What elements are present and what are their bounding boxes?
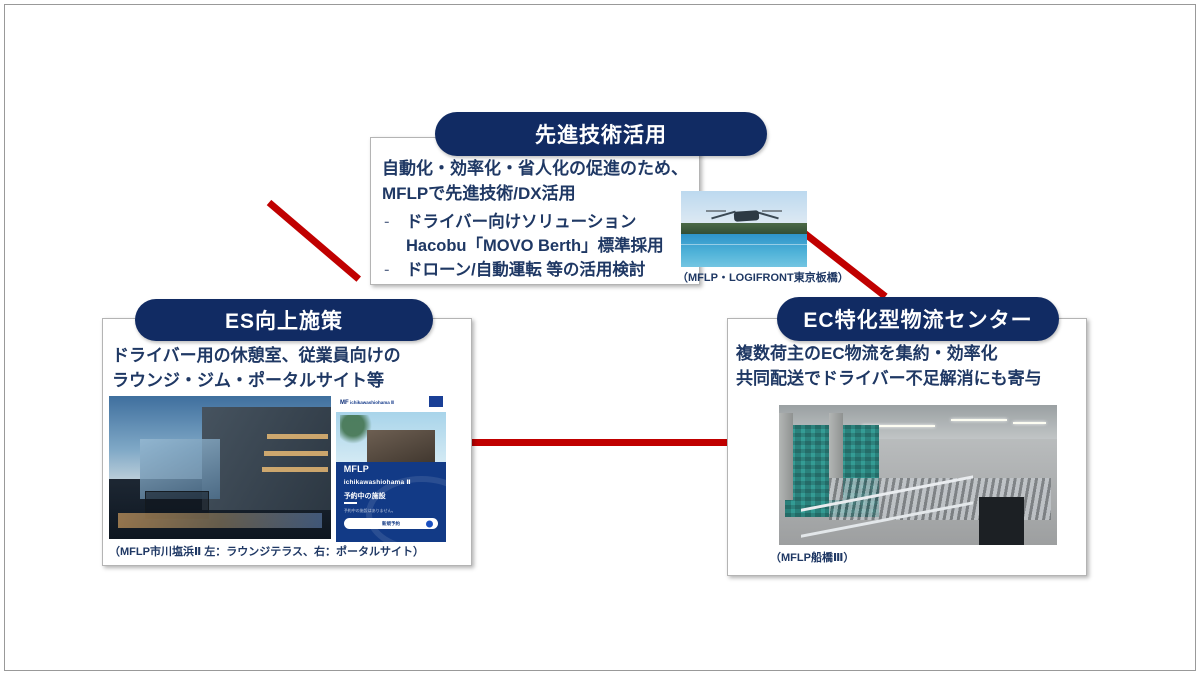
pill-label: EC特化型物流センター bbox=[803, 304, 1032, 334]
connector-left-to-right bbox=[467, 439, 735, 446]
lounge-terrace-photo bbox=[109, 396, 331, 539]
terrace-lights bbox=[118, 513, 322, 527]
ceiling-light bbox=[1013, 422, 1046, 424]
mflp-logo-icon: MF ichikawashiohama Ⅱ bbox=[340, 400, 394, 406]
top-lead-text: 自動化・効率化・省人化の促進のため、 MFLPで先進技術/DX活用 bbox=[382, 157, 702, 206]
caption-drone-photo: （MFLP・LOGIFRONT東京板橋） bbox=[677, 269, 849, 285]
phone-subtitle: ichikawashiohama Ⅱ bbox=[344, 478, 411, 486]
left-lead-text: ドライバー用の休憩室、従業員向けの ラウンジ・ジム・ポータルサイト等 bbox=[112, 344, 472, 393]
treeline-region bbox=[681, 223, 807, 235]
pill-label: ES向上施策 bbox=[225, 305, 343, 335]
building-light-band bbox=[264, 451, 328, 456]
drone-over-water-photo bbox=[681, 191, 807, 267]
glass-facade bbox=[140, 439, 220, 499]
pill-title-advanced-technology: 先進技術活用 bbox=[435, 112, 767, 156]
building-mass bbox=[202, 407, 331, 510]
bullet-dash-icon: - bbox=[384, 259, 406, 283]
phone-content-panel: MFLP ichikawashiohama Ⅱ 予約中の施設 予約中の施設はあり… bbox=[336, 462, 446, 542]
bullet-item: - ドライバー向けソリューション Hacobu「MOVO Berth」標準採用 bbox=[384, 211, 684, 259]
pill-title-employee-satisfaction: ES向上施策 bbox=[135, 299, 433, 341]
phone-top-bar: MF ichikawashiohama Ⅱ bbox=[336, 394, 446, 412]
portal-site-phone-mockup: MF ichikawashiohama Ⅱ MFLP ichikawashioh… bbox=[336, 394, 446, 542]
caption-warehouse-photo: （MFLP船橋Ⅲ） bbox=[770, 549, 854, 565]
chevron-right-icon bbox=[426, 520, 433, 527]
right-lead-text: 複数荷主のEC物流を集約・効率化 共同配送でドライバー不足解消にも寄与 bbox=[736, 342, 1086, 391]
equipment-shadow bbox=[979, 497, 1023, 545]
bullet-item: - ドローン/自動運転 等の活用検討 bbox=[384, 259, 684, 283]
pill-label: 先進技術活用 bbox=[535, 119, 667, 149]
slide-canvas: 先進技術活用 自動化・効率化・省人化の促進のため、 MFLPで先進技術/DX活用… bbox=[4, 4, 1196, 671]
phone-section-heading: 予約中の施設 bbox=[344, 491, 386, 501]
new-reservation-button[interactable]: 新規予約 bbox=[344, 518, 439, 529]
bullet-text: ドローン/自動運転 等の活用検討 bbox=[406, 259, 684, 283]
pill-title-ec-logistics-center: EC特化型物流センター bbox=[777, 297, 1059, 341]
building-light-band bbox=[267, 434, 329, 439]
drone-propeller-icon bbox=[706, 210, 726, 212]
warehouse-interior-photo bbox=[779, 405, 1057, 545]
connector-top-to-left bbox=[267, 200, 361, 282]
building-light-band bbox=[262, 467, 329, 472]
logo-mark: MF bbox=[340, 400, 349, 406]
phone-title: MFLP bbox=[344, 465, 369, 474]
bullet-text: ドライバー向けソリューション Hacobu「MOVO Berth」標準採用 bbox=[406, 211, 684, 259]
bullet-dash-icon: - bbox=[384, 211, 406, 235]
structural-pillar bbox=[779, 413, 793, 500]
button-label: 新規予約 bbox=[382, 521, 400, 527]
ceiling-light bbox=[951, 419, 1007, 421]
water-region bbox=[681, 234, 807, 267]
caption-left-photos: （MFLP市川塩浜Ⅱ 左：ラウンジテラス、右：ポータルサイト） bbox=[109, 543, 424, 559]
phone-hero-image bbox=[336, 412, 446, 468]
drone-propeller-icon bbox=[762, 210, 782, 212]
logo-site-name: ichikawashiohama Ⅱ bbox=[350, 400, 394, 405]
hamburger-menu-icon[interactable] bbox=[429, 396, 443, 407]
top-bullet-list: - ドライバー向けソリューション Hacobu「MOVO Berth」標準採用 … bbox=[384, 211, 684, 283]
section-underline bbox=[344, 502, 357, 504]
drone-body bbox=[734, 210, 760, 222]
phone-empty-note: 予約中の施設はありません。 bbox=[344, 508, 396, 514]
